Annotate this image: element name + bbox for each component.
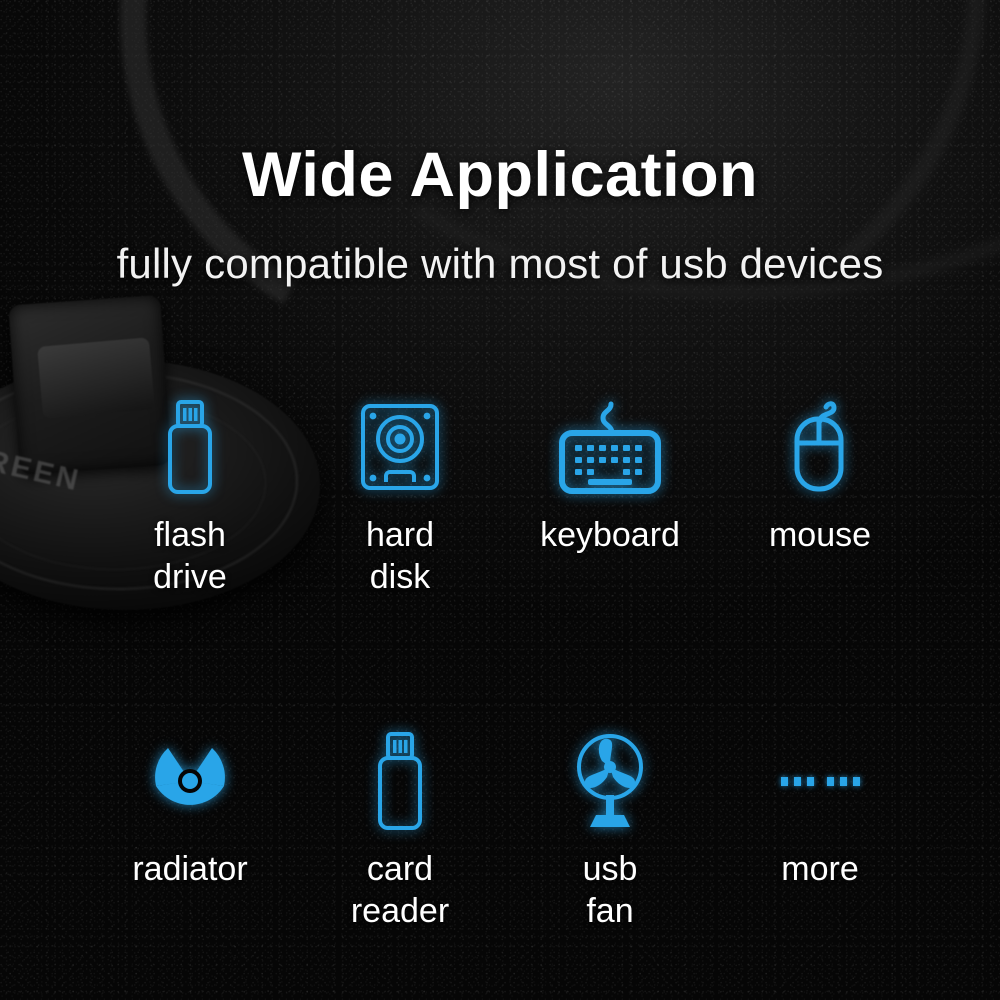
mouse-icon	[784, 392, 856, 502]
device-row-1: flash drive	[85, 392, 925, 598]
device-label: radiator	[132, 848, 247, 890]
device-label: flash drive	[153, 514, 227, 598]
device-label: mouse	[769, 514, 871, 556]
dot-group-left	[781, 777, 814, 786]
compatible-devices-grid: flash drive	[85, 392, 925, 932]
dot	[794, 777, 801, 786]
device-label: hard disk	[366, 514, 434, 598]
usb-flash-drive-icon	[162, 392, 218, 502]
device-item-card-reader[interactable]: card reader	[295, 726, 505, 932]
hard-disk-icon	[359, 392, 441, 502]
usb-fan-icon	[568, 726, 652, 836]
device-label: card reader	[351, 848, 449, 932]
device-item-radiator[interactable]: radiator	[85, 726, 295, 932]
radiation-icon	[147, 726, 233, 836]
device-label: more	[781, 848, 858, 890]
device-row-2: radiator c	[85, 726, 925, 932]
device-item-mouse[interactable]: mouse	[715, 392, 925, 598]
ellipsis-more-icon	[781, 726, 860, 836]
device-item-usb-fan[interactable]: usb fan	[505, 726, 715, 932]
device-label: usb fan	[583, 848, 638, 932]
page-subtitle: fully compatible with most of usb device…	[0, 240, 1000, 288]
device-label: keyboard	[540, 514, 680, 556]
device-item-keyboard[interactable]: keyboard	[505, 392, 715, 598]
dot-group-right	[827, 777, 860, 786]
dot	[853, 777, 860, 786]
product-feature-banner: UGREEN Wide Application fully compatible…	[0, 0, 1000, 1000]
dot	[781, 777, 788, 786]
keyboard-icon	[558, 392, 662, 502]
device-item-flash-drive[interactable]: flash drive	[85, 392, 295, 598]
dot	[827, 777, 834, 786]
dot	[807, 777, 814, 786]
card-reader-icon	[372, 726, 428, 836]
device-item-hard-disk[interactable]: hard disk	[295, 392, 505, 598]
page-title: Wide Application	[0, 139, 1000, 211]
device-item-more[interactable]: more	[715, 726, 925, 932]
dot	[840, 777, 847, 786]
